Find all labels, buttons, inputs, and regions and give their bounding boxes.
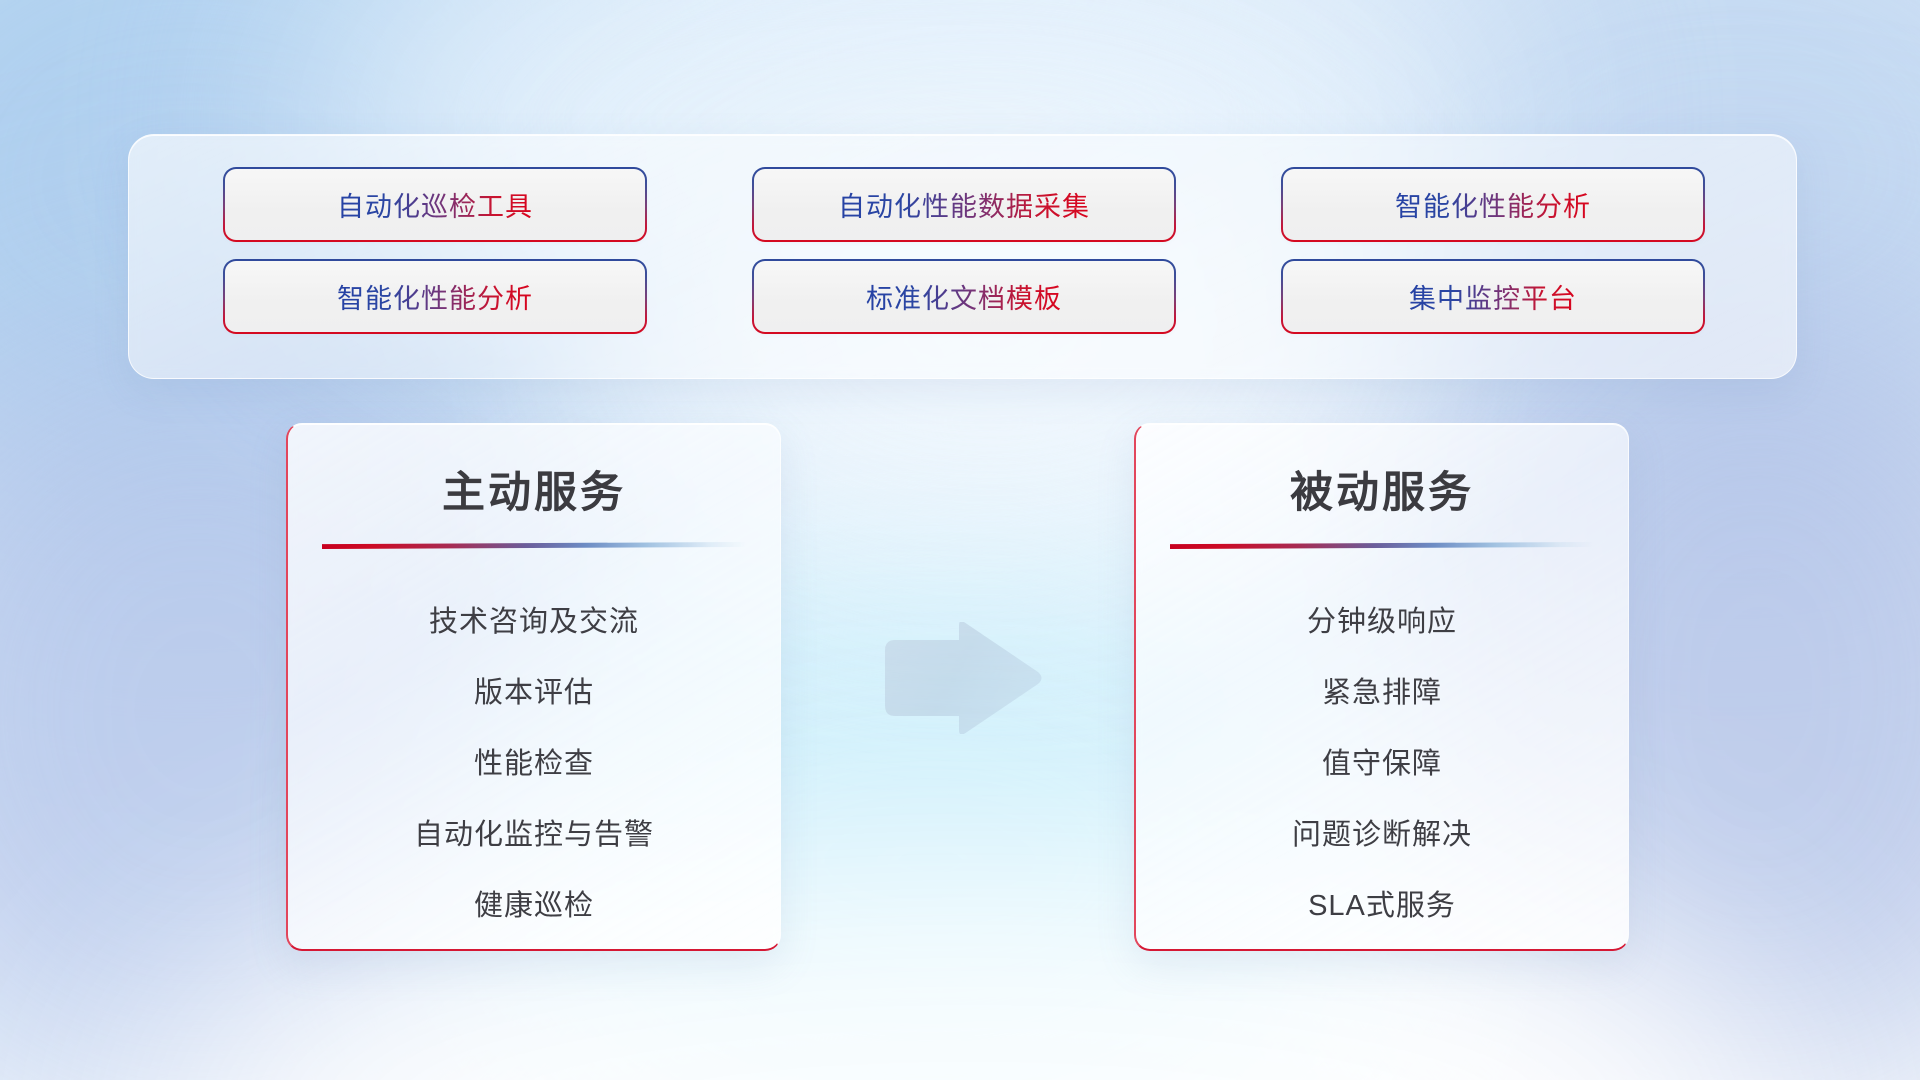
service-item: SLA式服务 bbox=[1136, 871, 1628, 942]
capability-pill-label: 智能化性能分析 bbox=[1395, 185, 1591, 224]
service-card-reactive: 被动服务 分钟级响应 紧急排障 值守保障 问题诊断解决 SLA式服务 bbox=[1134, 423, 1629, 951]
capability-pill[interactable]: 集中监控平台 bbox=[1283, 261, 1703, 332]
service-item: 版本评估 bbox=[288, 658, 780, 729]
capability-pill[interactable]: 智能化性能分析 bbox=[225, 261, 645, 332]
capabilities-panel: 自动化巡检工具 自动化性能数据采集 智能化性能分析 智能化性能分析 标准化文档模… bbox=[128, 134, 1797, 379]
service-card-title: 主动服务 bbox=[288, 458, 780, 520]
capability-pill-label: 自动化巡检工具 bbox=[337, 185, 533, 224]
service-item: 自动化监控与告警 bbox=[288, 800, 780, 871]
service-item: 性能检查 bbox=[288, 729, 780, 800]
service-item: 健康巡检 bbox=[288, 871, 780, 942]
capability-pill-label: 集中监控平台 bbox=[1409, 277, 1577, 316]
title-divider bbox=[1170, 542, 1594, 549]
capability-pill[interactable]: 自动化性能数据采集 bbox=[754, 169, 1174, 240]
service-item: 紧急排障 bbox=[1136, 658, 1628, 729]
capability-pill[interactable]: 标准化文档模板 bbox=[754, 261, 1174, 332]
service-item: 问题诊断解决 bbox=[1136, 800, 1628, 871]
capability-pill[interactable]: 智能化性能分析 bbox=[1283, 169, 1703, 240]
arrow-right-icon bbox=[877, 622, 1044, 734]
capability-pill-label: 标准化文档模板 bbox=[866, 277, 1062, 316]
title-divider bbox=[322, 542, 746, 549]
service-card-title: 被动服务 bbox=[1136, 458, 1628, 520]
capabilities-grid: 自动化巡检工具 自动化性能数据采集 智能化性能分析 智能化性能分析 标准化文档模… bbox=[225, 169, 1703, 332]
service-item: 分钟级响应 bbox=[1136, 587, 1628, 658]
capability-pill-label: 智能化性能分析 bbox=[337, 277, 533, 316]
capability-pill-label: 自动化性能数据采集 bbox=[838, 185, 1090, 224]
service-item: 值守保障 bbox=[1136, 729, 1628, 800]
service-item: 技术咨询及交流 bbox=[288, 587, 780, 658]
capability-pill[interactable]: 自动化巡检工具 bbox=[225, 169, 645, 240]
service-item-list: 技术咨询及交流 版本评估 性能检查 自动化监控与告警 健康巡检 bbox=[288, 587, 780, 942]
service-card-proactive: 主动服务 技术咨询及交流 版本评估 性能检查 自动化监控与告警 健康巡检 bbox=[286, 423, 781, 951]
service-item-list: 分钟级响应 紧急排障 值守保障 问题诊断解决 SLA式服务 bbox=[1136, 587, 1628, 942]
